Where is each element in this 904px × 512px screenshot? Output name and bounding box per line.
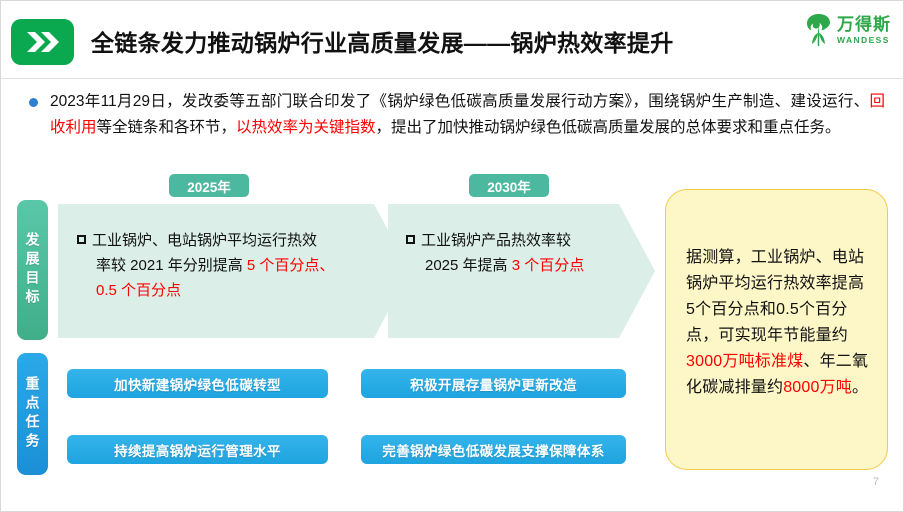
slide-header: 全链条发力推动锅炉行业高质量发展——锅炉热效率提升 万得斯 WANDESS [1, 1, 904, 79]
callout-text-3: 。 [852, 379, 868, 396]
brand-logo: 万得斯 WANDESS [805, 13, 891, 47]
intro-text-2: 等全链条和各环节， [97, 119, 237, 136]
chevron-step-2-content: 工业锅炉产品热效率较 2025 年提高 3 个百分点 [406, 228, 656, 278]
intro-paragraph-block: 2023年11月29日，发改委等五部门联合印发了《锅炉绿色低碳高质量发展行动方案… [29, 89, 885, 141]
chevron-2-line2-red: 3 个百分点 [512, 257, 585, 274]
chevron-2-line2-black: 2025 年提高 [425, 257, 512, 274]
page-number: 7 [873, 476, 879, 488]
page-title: 全链条发力推动锅炉行业高质量发展——锅炉热效率提升 [91, 24, 674, 58]
logo-text-en: WANDESS [837, 36, 891, 45]
intro-text-1: 2023年11月29日，发改委等五部门联合印发了《锅炉绿色低碳高质量发展行动方案… [50, 93, 869, 110]
task-box-2[interactable]: 积极开展存量锅炉更新改造 [361, 369, 626, 398]
chevron-1-line1: 工业锅炉、电站锅炉平均运行热效 [92, 232, 317, 249]
intro-text-3: ，提出了加快推动锅炉绿色低碳高质量发展的总体要求和重点任务。 [376, 119, 841, 136]
intro-paragraph: 2023年11月29日，发改委等五部门联合印发了《锅炉绿色低碳高质量发展行动方案… [50, 89, 885, 141]
side-tab-development-goal: 发展目标 [17, 200, 48, 340]
timeline-chevron-band: 工业锅炉、电站锅炉平均运行热效 率较 2021 年分别提高 5 个百分点、 0.… [58, 204, 655, 338]
estimate-callout-box: 据测算，工业锅炉、电站锅炉平均运行热效率提高5个百分点和0.5个百分点，可实现年… [665, 189, 888, 470]
bullet-dot-icon [29, 98, 38, 107]
slide-canvas: 全链条发力推动锅炉行业高质量发展——锅炉热效率提升 万得斯 WANDESS 20… [0, 0, 904, 512]
year-badge-2030: 2030年 [469, 174, 549, 197]
chevron-2-line1: 工业锅炉产品热效率较 [421, 232, 571, 249]
double-chevron-icon [11, 19, 74, 65]
intro-highlight-2: 以热效率为关键指数 [236, 119, 376, 136]
task-box-1[interactable]: 加快新建锅炉绿色低碳转型 [67, 369, 328, 398]
year-badge-2025: 2025年 [169, 174, 249, 197]
header-divider [1, 78, 904, 79]
logo-text-cn: 万得斯 [837, 16, 891, 33]
chevron-1-line2-black: 率较 2021 年分别提高 [96, 257, 247, 274]
wandess-leaf-logo [805, 13, 832, 47]
task-box-3[interactable]: 持续提高锅炉运行管理水平 [67, 435, 328, 464]
callout-highlight-1: 3000万吨标准煤 [686, 353, 803, 370]
chevron-1-line2-red: 5 个百分点、 [247, 257, 335, 274]
chevron-step-1-content: 工业锅炉、电站锅炉平均运行热效 率较 2021 年分别提高 5 个百分点、 0.… [77, 228, 373, 303]
estimate-callout-text: 据测算，工业锅炉、电站锅炉平均运行热效率提高5个百分点和0.5个百分点，可实现年… [686, 245, 872, 401]
chevron-1-line3-red: 0.5 个百分点 [77, 278, 373, 303]
side-tab-key-tasks: 重点任务 [17, 353, 48, 475]
callout-highlight-2: 8000万吨 [783, 379, 852, 396]
task-box-4[interactable]: 完善锅炉绿色低碳发展支撑保障体系 [361, 435, 626, 464]
callout-text-1: 据测算，工业锅炉、电站锅炉平均运行热效率提高5个百分点和0.5个百分点，可实现年… [686, 249, 864, 344]
square-bullet-icon [406, 235, 415, 244]
square-bullet-icon [77, 235, 86, 244]
